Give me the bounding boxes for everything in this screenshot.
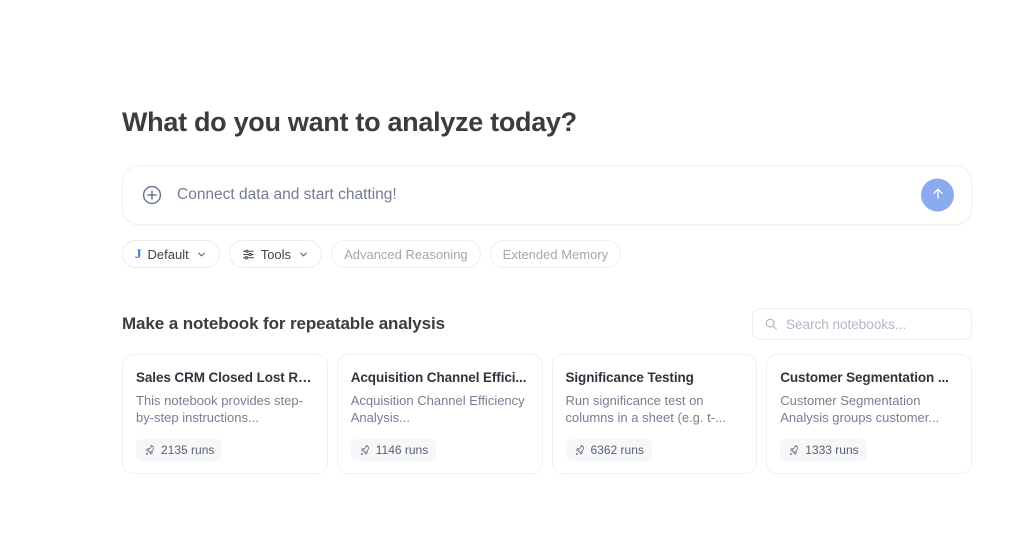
composer-options-row: J Default Tools (122, 240, 972, 268)
notebook-card-description: Acquisition Channel Efficiency Analysis.… (351, 392, 529, 426)
pill-extended-memory[interactable]: Extended Memory (490, 240, 622, 268)
notebook-card-description: Customer Segmentation Analysis groups cu… (780, 392, 958, 426)
chat-composer[interactable]: Connect data and start chatting! (122, 165, 972, 225)
notebooks-section-title: Make a notebook for repeatable analysis (122, 314, 445, 334)
pill-label-advanced-reasoning: Advanced Reasoning (344, 247, 468, 262)
notebooks-header: Make a notebook for repeatable analysis (122, 308, 972, 340)
notebook-runs-label: 6362 runs (591, 443, 644, 457)
search-icon (764, 317, 778, 331)
notebook-card-title: Customer Segmentation ... (780, 370, 958, 385)
plus-circle-icon[interactable] (141, 184, 163, 206)
notebook-runs-badge: 2135 runs (136, 439, 222, 461)
notebook-card-grid: Sales CRM Closed Lost Re... This noteboo… (122, 354, 972, 474)
notebook-runs-badge: 6362 runs (566, 439, 652, 461)
rocket-icon (359, 444, 371, 456)
notebook-card[interactable]: Significance Testing Run significance te… (552, 354, 758, 474)
rocket-icon (788, 444, 800, 456)
pill-label-tools: Tools (261, 247, 291, 262)
notebook-runs-label: 1146 runs (376, 443, 428, 457)
pill-advanced-reasoning[interactable]: Advanced Reasoning (331, 240, 481, 268)
send-button[interactable] (921, 179, 954, 212)
notebook-card[interactable]: Customer Segmentation ... Customer Segme… (766, 354, 972, 474)
page-title: What do you want to analyze today? (122, 105, 972, 139)
pill-tools[interactable]: Tools (229, 240, 322, 268)
sliders-icon (242, 248, 255, 261)
notebook-card[interactable]: Sales CRM Closed Lost Re... This noteboo… (122, 354, 328, 474)
chevron-down-icon (196, 249, 207, 260)
notebook-runs-label: 1333 runs (805, 443, 858, 457)
app-root: What do you want to analyze today? Conne… (0, 0, 1024, 550)
chat-input-placeholder[interactable]: Connect data and start chatting! (177, 186, 957, 204)
rocket-icon (574, 444, 586, 456)
main-content: What do you want to analyze today? Conne… (122, 0, 972, 474)
search-input[interactable] (786, 317, 960, 332)
notebook-card[interactable]: Acquisition Channel Effici... Acquisitio… (337, 354, 543, 474)
chevron-down-icon (298, 249, 309, 260)
notebook-runs-label: 2135 runs (161, 443, 214, 457)
brand-j-icon: J (135, 246, 142, 262)
notebook-card-title: Sales CRM Closed Lost Re... (136, 370, 314, 385)
notebook-card-description: This notebook provides step-by-step inst… (136, 392, 314, 426)
notebook-card-title: Acquisition Channel Effici... (351, 370, 529, 385)
pill-default-model[interactable]: J Default (122, 240, 220, 268)
notebook-runs-badge: 1333 runs (780, 439, 866, 461)
rocket-icon (144, 444, 156, 456)
pill-label-extended-memory: Extended Memory (503, 247, 609, 262)
pill-label-default: Default (148, 247, 189, 262)
arrow-up-icon (930, 186, 946, 205)
notebook-runs-badge: 1146 runs (351, 439, 436, 461)
notebook-card-description: Run significance test on columns in a sh… (566, 392, 744, 426)
notebook-search-box[interactable] (752, 308, 972, 340)
notebook-card-title: Significance Testing (566, 370, 744, 385)
